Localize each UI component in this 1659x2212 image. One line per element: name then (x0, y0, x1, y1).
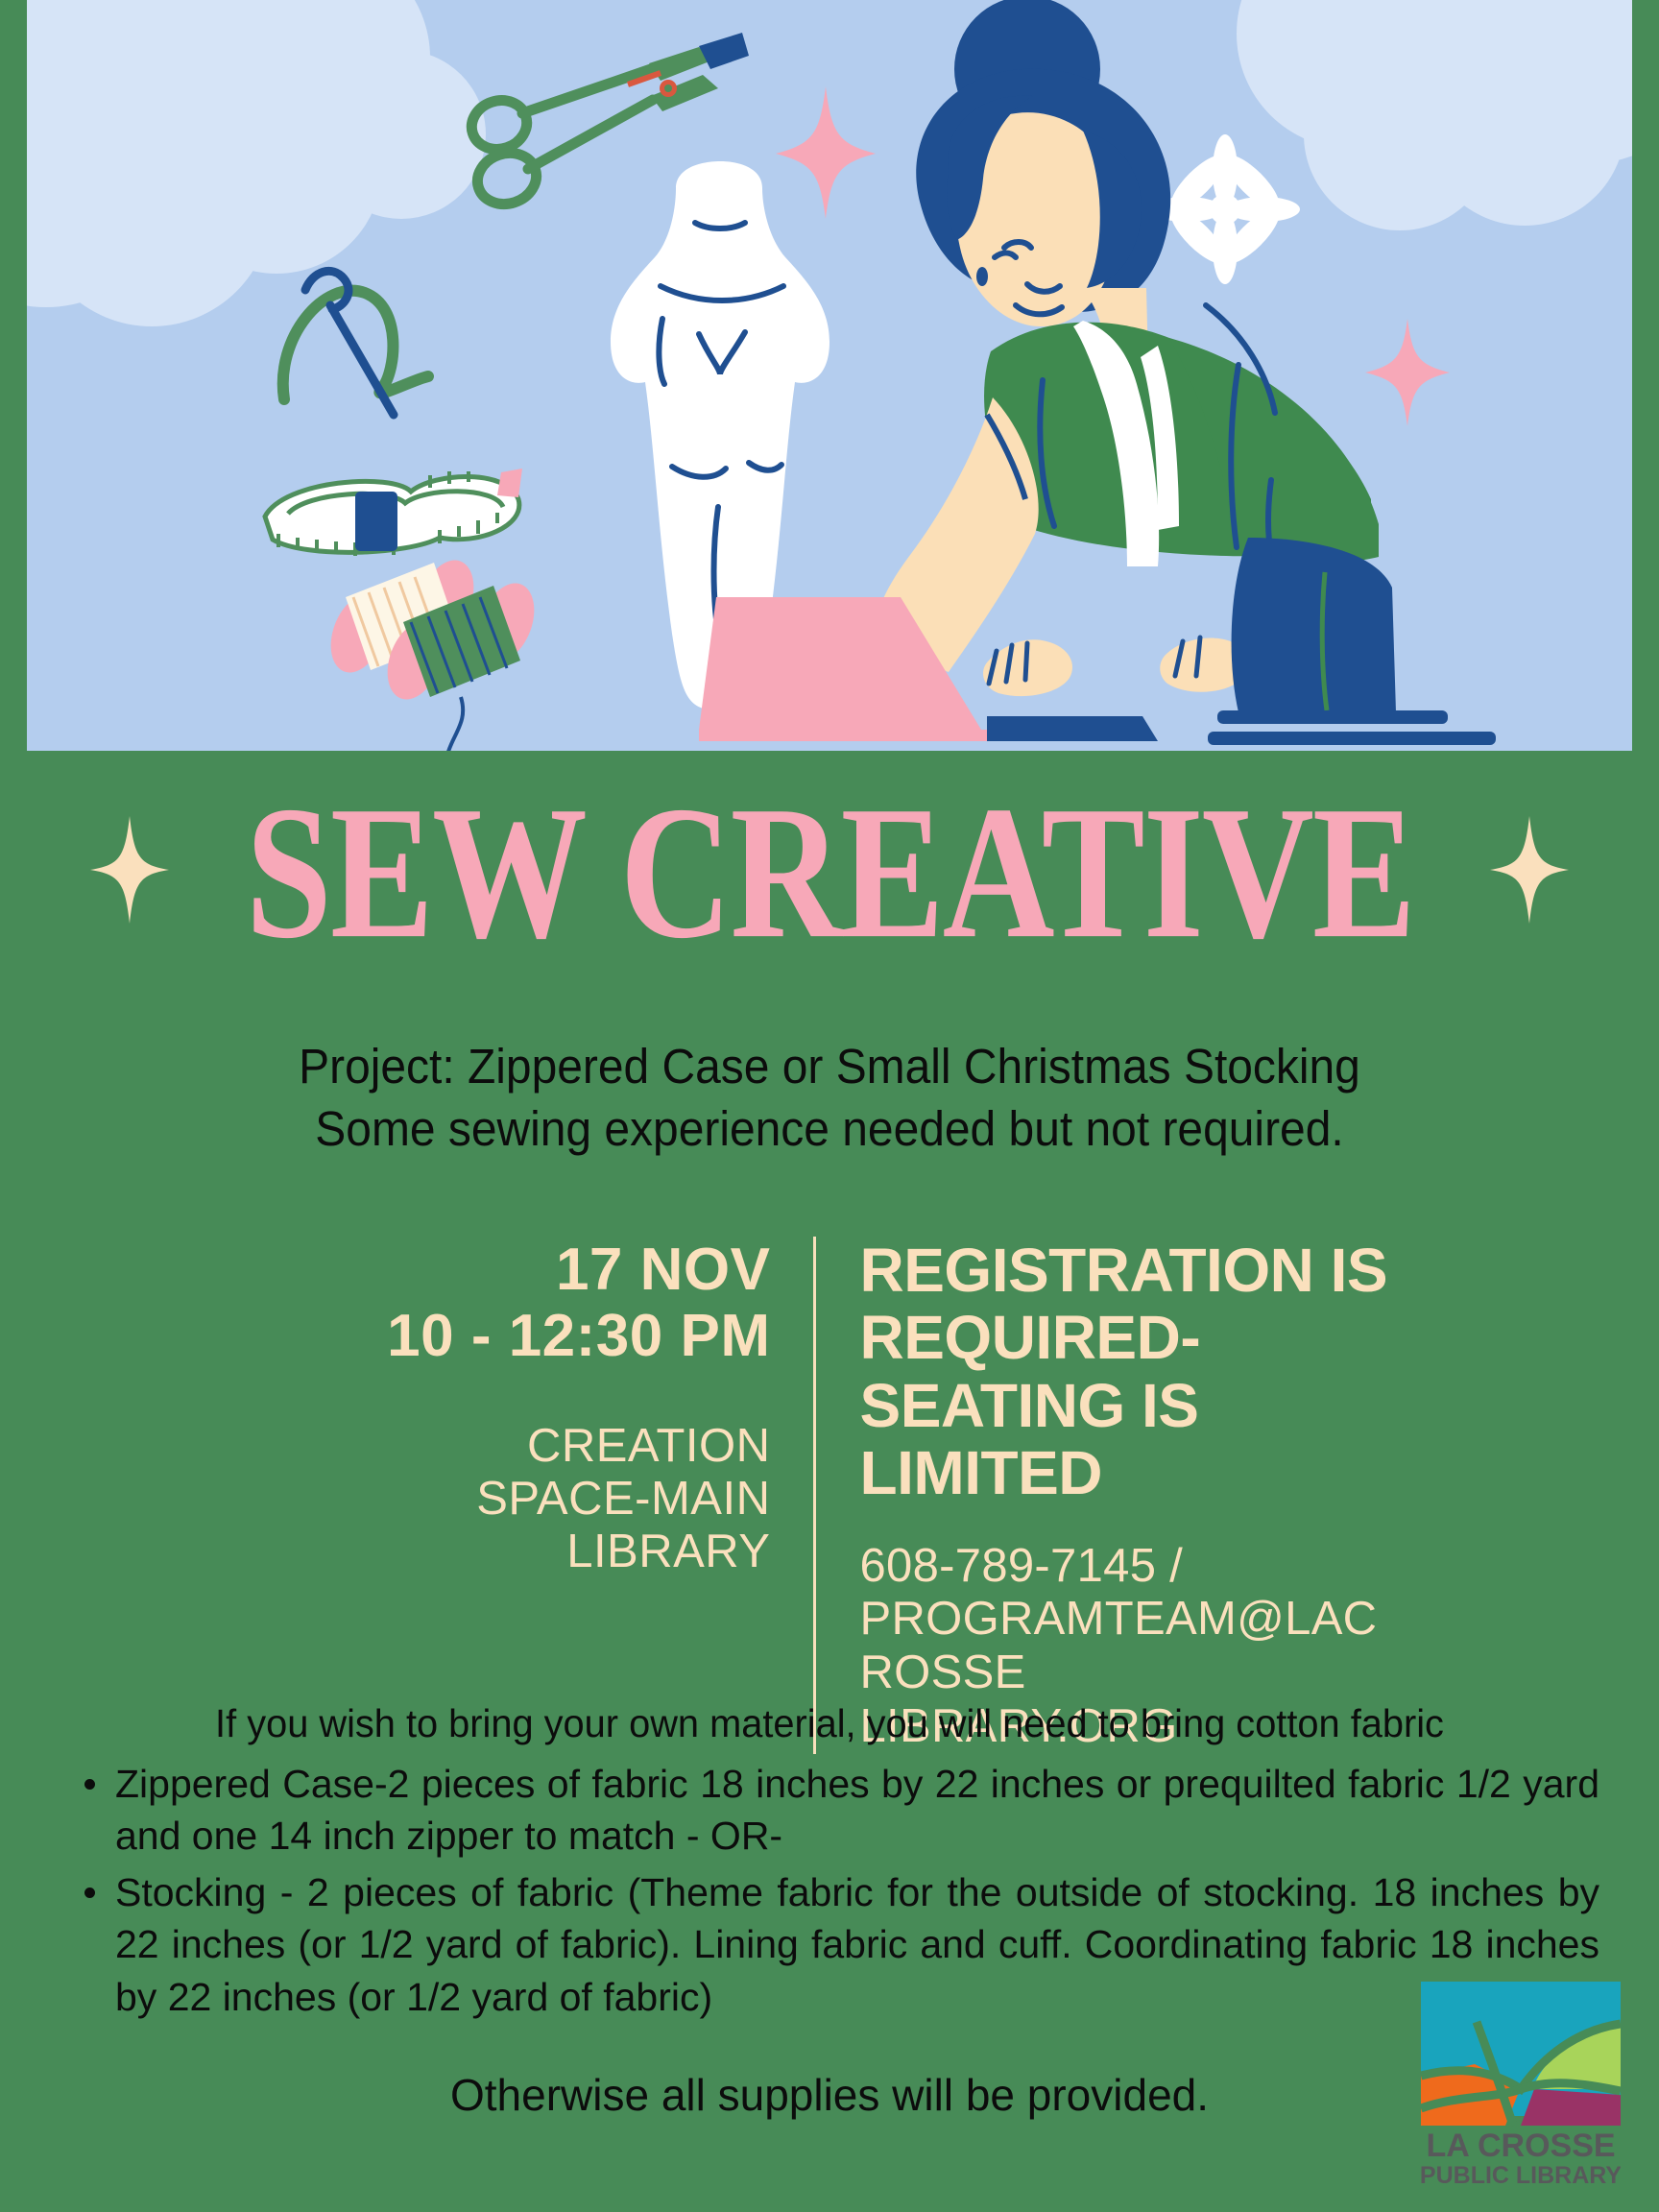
logo-line-2: PUBLIC LIBRARY (1421, 2162, 1621, 2189)
registration-notice: REGISTRATION IS REQUIRED-SEATING IS LIMI… (860, 1237, 1411, 1507)
date-venue-column: 17 NOV 10 - 12:30 PM CREATION SPACE-MAIN… (249, 1237, 813, 1578)
hero-illustration (27, 0, 1632, 751)
list-item: Zippered Case-2 pieces of fabric 18 inch… (60, 1758, 1599, 1863)
phone-number[interactable]: 608-789-7145 / (860, 1540, 1411, 1594)
materials-intro: If you wish to bring your own material, … (83, 1697, 1576, 1750)
venue-line-3: LIBRARY (249, 1526, 771, 1578)
subtitle-block: Project: Zippered Case or Small Christma… (0, 1035, 1659, 1161)
venue-line-2: SPACE-MAIN (249, 1473, 771, 1526)
poster: SEW CREATIVE Project: Zippered Case or S… (0, 0, 1659, 2212)
closing-note: Otherwise all supplies will be provided. (0, 2069, 1659, 2121)
sparkle-icon (90, 816, 169, 928)
materials-list: Zippered Case-2 pieces of fabric 18 inch… (60, 1758, 1599, 2024)
subtitle-line-2: Some sewing experience needed but not re… (50, 1097, 1609, 1160)
logo-line-1: LA CROSSE (1426, 2128, 1615, 2164)
email-line-1[interactable]: PROGRAMTEAM@LACROSSE (860, 1593, 1411, 1700)
la-crosse-public-library-logo: LA CROSSE PUBLIC LIBRARY (1421, 1982, 1621, 2191)
venue-line-1: CREATION (249, 1420, 771, 1473)
subtitle-line-1: Project: Zippered Case or Small Christma… (50, 1035, 1609, 1097)
event-time: 10 - 12:30 PM (249, 1303, 771, 1369)
list-item: Stocking - 2 pieces of fabric (Theme fab… (60, 1866, 1599, 2024)
page-title: SEW CREATIVE (245, 788, 1413, 956)
registration-column: REGISTRATION IS REQUIRED-SEATING IS LIMI… (816, 1237, 1411, 1754)
title-row: SEW CREATIVE (0, 799, 1659, 946)
scissors-pivot-center (664, 84, 672, 92)
details-block: 17 NOV 10 - 12:30 PM CREATION SPACE-MAIN… (0, 1237, 1659, 1754)
sparkle-icon (1490, 816, 1569, 928)
event-date: 17 NOV (249, 1237, 771, 1303)
materials-block: If you wish to bring your own material, … (60, 1697, 1599, 2027)
